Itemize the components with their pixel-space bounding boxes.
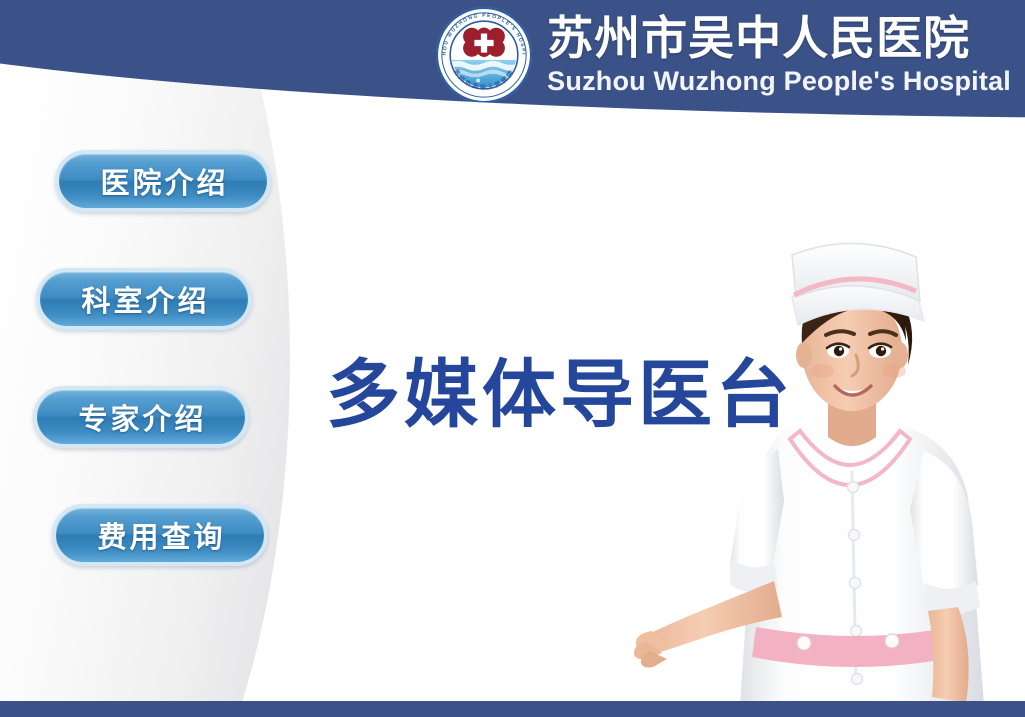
kiosk-screen: SUZHOU WUZHONG PEOPLE'S HOSPITAL 苏州市吴中人民… — [0, 0, 1025, 717]
sidebar-nav: 医院介绍 科室介绍 专家介绍 费用查询 — [0, 150, 300, 622]
hospital-emblem-icon: SUZHOU WUZHONG PEOPLE'S HOSPITAL 苏州市吴中人民… — [435, 6, 533, 104]
page-title-text: 多媒体导医台 — [326, 358, 794, 432]
sidebar-item-label: 专家介绍 — [75, 396, 206, 438]
sidebar-item-fee-inquiry[interactable]: 费用查询 — [52, 504, 268, 566]
sidebar-item-hospital-intro[interactable]: 医院介绍 — [55, 150, 271, 212]
header-content: SUZHOU WUZHONG PEOPLE'S HOSPITAL 苏州市吴中人民… — [435, 6, 1011, 104]
footer-bar — [0, 701, 1025, 717]
page-title: 多媒体导医台 — [326, 358, 794, 432]
nurse-photo — [628, 235, 1025, 705]
hospital-name-block: 苏州市吴中人民医院 Suzhou Wuzhong People's Hospit… — [547, 15, 1011, 95]
sidebar-item-label: 医院介绍 — [97, 160, 228, 202]
sidebar-item-label: 费用查询 — [94, 514, 225, 556]
sidebar-item-expert-intro[interactable]: 专家介绍 — [33, 386, 249, 448]
sidebar-item-department-intro[interactable]: 科室介绍 — [36, 268, 252, 330]
hospital-name-cn: 苏州市吴中人民医院 — [547, 15, 1011, 61]
hospital-name-en: Suzhou Wuzhong People's Hospital — [547, 68, 1011, 95]
sidebar-item-label: 科室介绍 — [78, 278, 209, 320]
